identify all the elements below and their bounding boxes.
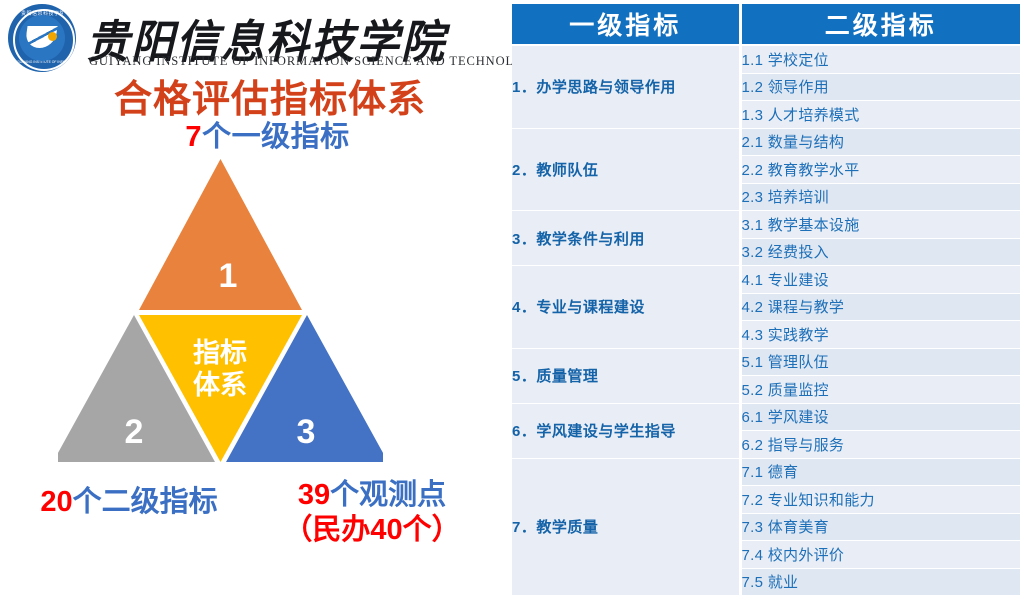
level1-indicator-cell: 6．学风建设与学生指导 xyxy=(512,403,740,458)
table-row: 7．教学质量7.1 德育 xyxy=(512,458,1020,486)
level2-indicator-cell: 7.1 德育 xyxy=(740,458,1020,486)
level2-indicator-cell: 6.1 学风建设 xyxy=(740,403,1020,431)
indicator-triangle-diagram: 1 2 3 指标 体系 xyxy=(58,155,383,465)
subtitle-count: 7 xyxy=(185,121,202,153)
level2-indicator-cell: 2.2 教育教学水平 xyxy=(740,156,1020,184)
level2-indicator-cell: 6.2 指导与服务 xyxy=(740,431,1020,459)
level2-indicator-cell: 3.2 经费投入 xyxy=(740,238,1020,266)
table-body: 1．办学思路与领导作用1.1 学校定位1.2 领导作用1.3 人才培养模式2．教… xyxy=(512,45,1020,596)
level1-indicator-cell: 5．质量管理 xyxy=(512,348,740,403)
seal-emblem xyxy=(19,15,65,61)
table-row: 6．学风建设与学生指导6.1 学风建设 xyxy=(512,403,1020,431)
triangle-left-label: 2 xyxy=(125,413,144,451)
level1-indicator-cell: 7．教学质量 xyxy=(512,458,740,596)
column-header-level1: 一级指标 xyxy=(512,4,740,45)
level1-indicator-cell: 2．教师队伍 xyxy=(512,128,740,211)
level2-indicator-cell: 7.4 校内外评价 xyxy=(740,541,1020,569)
level1-indicator-cell: 4．专业与课程建设 xyxy=(512,266,740,349)
subtitle: 7个一级指标 xyxy=(0,113,505,155)
level2-indicator-cell: 5.1 管理队伍 xyxy=(740,348,1020,376)
subtitle-text: 个一级指标 xyxy=(202,121,350,153)
brand-header: 贵阳信息科技学院 GUIYANG INSTITUTE OF INFORMATIO… xyxy=(4,2,504,62)
level2-indicator-cell: 1.1 学校定位 xyxy=(740,45,1020,73)
level2-indicator-cell: 4.3 实践教学 xyxy=(740,321,1020,349)
table-header-row: 一级指标 二级指标 xyxy=(512,4,1020,45)
triangle-center-label-line1: 指标 xyxy=(193,338,247,368)
table-row: 5．质量管理5.1 管理队伍 xyxy=(512,348,1020,376)
level2-indicator-cell: 7.2 专业知识和能力 xyxy=(740,486,1020,514)
level2-indicator-cell: 2.1 数量与结构 xyxy=(740,128,1020,156)
level2-indicator-cell: 2.3 培养培训 xyxy=(740,183,1020,211)
university-name-en: GUIYANG INSTITUTE OF INFORMATION SCIENCE… xyxy=(89,54,544,69)
footer-level2-text: 个二级指标 xyxy=(73,486,218,518)
level2-indicator-cell: 5.2 质量监控 xyxy=(740,376,1020,404)
left-panel: 贵阳信息科技学院 GUIYANG INSTITUTE OF INFORMATIO… xyxy=(0,0,505,576)
footer-observation-note: （民办40个） xyxy=(252,513,492,548)
level2-indicator-cell: 1.3 人才培养模式 xyxy=(740,101,1020,129)
table-row: 1．办学思路与领导作用1.1 学校定位 xyxy=(512,45,1020,73)
indicator-table: 一级指标 二级指标 1．办学思路与领导作用1.1 学校定位1.2 领导作用1.3… xyxy=(512,4,1020,596)
level2-indicator-cell: 4.2 课程与教学 xyxy=(740,293,1020,321)
sun-dot-icon xyxy=(48,32,57,41)
column-header-level2: 二级指标 xyxy=(740,4,1020,45)
level2-indicator-cell: 7.3 体育美育 xyxy=(740,513,1020,541)
table-row: 2．教师队伍2.1 数量与结构 xyxy=(512,128,1020,156)
triangle-right-label: 3 xyxy=(297,413,316,451)
triangle-center-label-line2: 体系 xyxy=(193,370,247,400)
level1-indicator-cell: 1．办学思路与领导作用 xyxy=(512,45,740,128)
footer-observation-number: 39 xyxy=(298,479,330,511)
footer-level2-count: 20个二级指标 xyxy=(14,478,244,520)
table-row: 4．专业与课程建设4.1 专业建设 xyxy=(512,266,1020,294)
level1-indicator-cell: 3．教学条件与利用 xyxy=(512,211,740,266)
level2-indicator-cell: 1.2 领导作用 xyxy=(740,73,1020,101)
level2-indicator-cell: 7.5 就业 xyxy=(740,568,1020,596)
university-seal-icon: 贵阳信息科技学院 GUIYANG INSTITUTE OF INFORMATIO… xyxy=(8,4,76,72)
footer-level2-number: 20 xyxy=(40,486,72,518)
footer-observation-text: 个观测点 xyxy=(330,479,446,511)
level2-indicator-cell: 3.1 教学基本设施 xyxy=(740,211,1020,239)
footer-observation-count: 39个观测点 （民办40个） xyxy=(252,478,492,549)
level2-indicator-cell: 4.1 专业建设 xyxy=(740,266,1020,294)
table-row: 3．教学条件与利用3.1 教学基本设施 xyxy=(512,211,1020,239)
triangle-top-label: 1 xyxy=(219,257,238,295)
